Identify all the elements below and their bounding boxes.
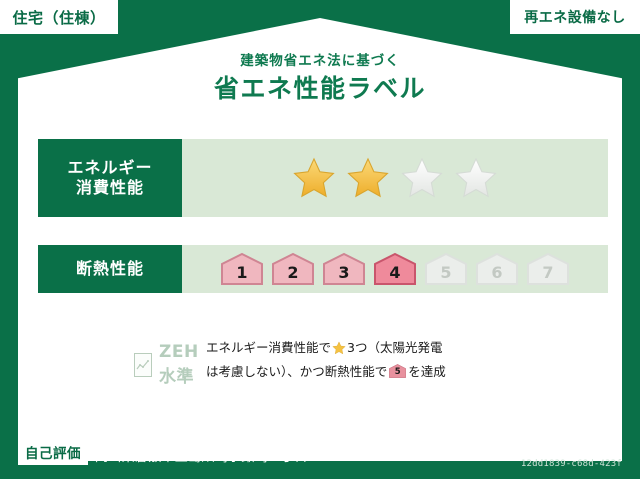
energy-star-rating [182,139,608,217]
energy-performance-row: エネルギー 消費性能 [38,139,608,217]
inline-badge-value: 5 [389,364,406,378]
title-subtitle: 建築物省エネ法に基づく [0,55,640,69]
insulation-level-value: 1 [220,252,264,286]
insulation-performance-label: 断熱性能 [38,245,182,293]
zeh-label: ZEH水準 [159,342,206,387]
insulation-level-badge: 5 [424,252,468,286]
star-filled-icon [291,156,337,200]
evaluation-date: 評価日 2025年7月9日 [480,441,622,461]
zeh-desc-star-text: 3つ（太陽光発電 [347,340,442,355]
insulation-performance-row: 断熱性能 1234567 [38,245,608,293]
renewable-energy-tag: 再エネ設備なし [510,0,640,34]
title-main: 省エネ性能ラベル [0,76,640,101]
insulation-level-badge: 6 [475,252,519,286]
star-filled-icon [345,156,391,200]
insulation-level-value: 6 [475,252,519,286]
building-type-tag: 住宅（住棟） [0,0,118,34]
insulation-level-value: 4 [373,252,417,286]
insulation-level-value: 5 [424,252,468,286]
zeh-desc-part1: エネルギー消費性能で [206,340,331,355]
insulation-level-value: 7 [526,252,570,286]
inline-star-icon [332,341,346,362]
evaluation-date-label: 評価日 [480,445,521,461]
insulation-level-badge: 1 [220,252,264,286]
zeh-description: エネルギー消費性能で3つ（太陽光発電 は考慮しない）、かつ断熱性能で5を達成 [206,338,446,382]
property-address: 岡山県倉敷市玉島爪崎字鍬崎４丁目 [95,446,308,465]
evaluation-id: 12dd1839-c68d-423f [521,459,622,469]
energy-label-line1: エネルギー [67,158,152,178]
insulation-level-badge: 4 [373,252,417,286]
insulation-level-scale: 1234567 [182,245,608,293]
insulation-level-value: 3 [322,252,366,286]
energy-label-line2: 消費性能 [76,178,144,198]
insulation-level-badge: 7 [526,252,570,286]
label-title: 建築物省エネ法に基づく 省エネ性能ラベル [0,55,640,101]
inline-level-badge: 5 [389,364,406,378]
star-empty-icon [399,156,445,200]
label-footer: 自己評価 岡山県倉敷市玉島爪崎字鍬崎４丁目 評価日 2025年7月9日 12dd… [0,435,640,479]
star-empty-icon [453,156,499,200]
zeh-desc-part2: は考慮しない）、かつ断熱性能で [206,364,387,379]
zeh-standard-row: ZEH水準 エネルギー消費性能で3つ（太陽光発電 は考慮しない）、かつ断熱性能で… [38,338,608,387]
insulation-level-badge: 3 [322,252,366,286]
energy-label-root: 住宅（住棟） 再エネ設備なし 建築物省エネ法に基づく 省エネ性能ラベル エネルギ… [0,0,640,479]
evaluation-type-badge: 自己評価 [18,443,88,465]
zeh-mark: ZEH水準 [38,338,206,387]
insulation-level-badge: 2 [271,252,315,286]
energy-performance-label: エネルギー 消費性能 [38,139,182,217]
insulation-level-value: 2 [271,252,315,286]
zeh-desc-part3: を達成 [408,364,446,379]
zeh-chart-icon [134,353,152,377]
